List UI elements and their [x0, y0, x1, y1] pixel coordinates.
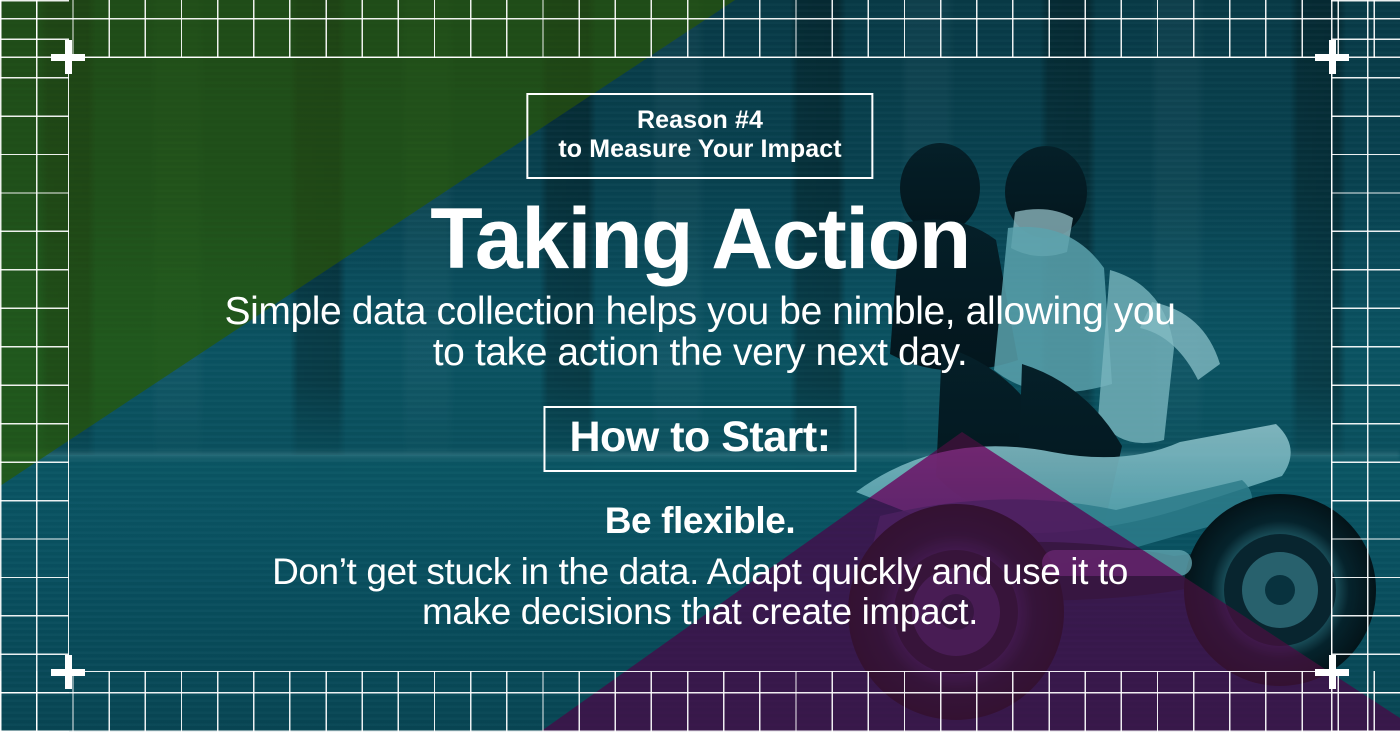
tip-heading: Be flexible. — [0, 500, 1400, 542]
slide-subtitle-line1: Simple data collection helps you be nimb… — [0, 292, 1400, 333]
reason-eyebrow-line1: Reason #4 — [558, 106, 841, 135]
slide-content: Reason #4 to Measure Your Impact Taking … — [0, 0, 1400, 732]
slide-subtitle: Simple data collection helps you be nimb… — [0, 292, 1400, 373]
slide-subtitle-line2: to take action the very next day. — [0, 333, 1400, 374]
slide-canvas: Reason #4 to Measure Your Impact Taking … — [0, 0, 1400, 732]
reason-eyebrow-line2: to Measure Your Impact — [558, 135, 841, 164]
tip-body-line2: make decisions that create impact. — [0, 592, 1400, 632]
how-to-start-box: How to Start: — [543, 406, 856, 472]
reason-eyebrow-box: Reason #4 to Measure Your Impact — [526, 93, 873, 179]
tip-body-line1: Don’t get stuck in the data. Adapt quick… — [0, 552, 1400, 592]
how-to-start-label: How to Start: — [569, 414, 830, 460]
slide-title: Taking Action — [0, 196, 1400, 282]
tip-body: Don’t get stuck in the data. Adapt quick… — [0, 552, 1400, 632]
